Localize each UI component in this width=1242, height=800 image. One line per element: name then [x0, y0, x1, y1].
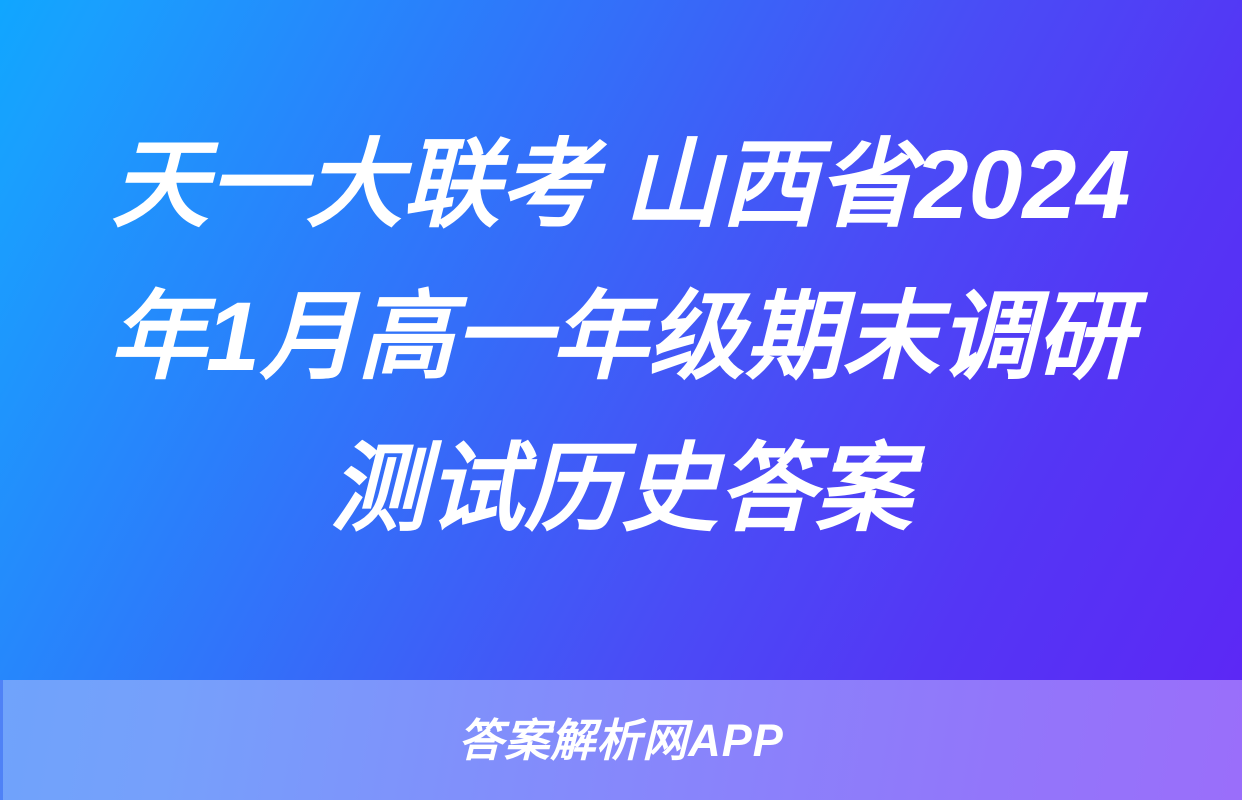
band-left-edge-divider — [0, 680, 3, 800]
page-title: 天一大联考 山西省2024 年1月高一年级期末调研 测试历史答案 — [76, 109, 1166, 571]
poster-root: 天一大联考 山西省2024 年1月高一年级期末调研 测试历史答案 答案解析网AP… — [0, 0, 1242, 800]
app-watermark-label: 答案解析网APP — [458, 718, 784, 763]
watermark-band: 答案解析网APP — [0, 680, 1242, 800]
hero-gradient-banner: 天一大联考 山西省2024 年1月高一年级期末调研 测试历史答案 — [0, 0, 1242, 680]
